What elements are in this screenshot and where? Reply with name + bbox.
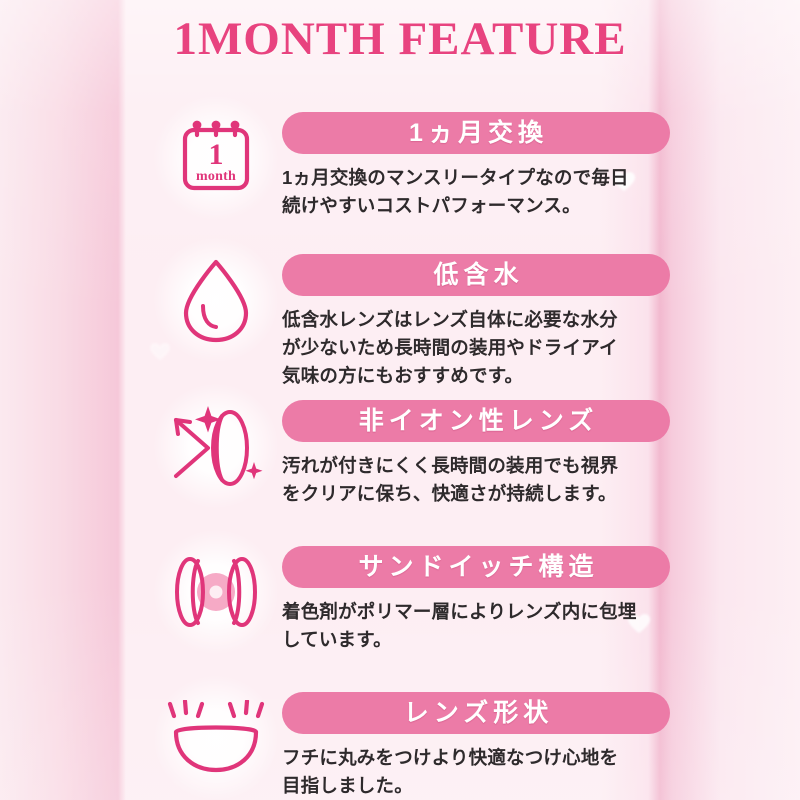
- calendar-unit: month: [196, 169, 236, 184]
- page-title: 1MONTH FEATURE: [0, 12, 800, 66]
- feature-poster: 1MONTH FEATURE 1 month 1ヵ月交換 1ヵ月交換のマンス: [0, 0, 800, 800]
- feature-pill-monthly-replacement: 1ヵ月交換: [282, 112, 670, 154]
- feature-pill-lens-shape: レンズ形状: [282, 692, 670, 734]
- feature-description: 1ヵ月交換のマンスリータイプなので毎日 続けやすいコストパフォーマンス。: [282, 164, 670, 220]
- desc-line: が少ないため長時間の装用やドライアイ: [282, 334, 670, 362]
- desc-line: 気味の方にもおすすめです。: [282, 362, 670, 390]
- feature-row-sandwich-structure: サンドイッチ構造 着色剤がポリマー層によりレンズ内に包埋 しています。: [150, 544, 670, 658]
- sandwich-lens-layers-icon: [150, 526, 282, 658]
- feature-pill-sandwich-structure: サンドイッチ構造: [282, 546, 670, 588]
- feature-text-block: サンドイッチ構造 着色剤がポリマー層によりレンズ内に包埋 しています。: [282, 544, 670, 654]
- feature-text-block: 低含水 低含水レンズはレンズ自体に必要な水分 が少ないため長時間の装用やドライア…: [282, 252, 670, 390]
- desc-line: フチに丸みをつけより快適なつけ心地を: [282, 744, 670, 772]
- feature-row-monthly-replacement: 1 month 1ヵ月交換 1ヵ月交換のマンスリータイプなので毎日 続けやすいコ…: [150, 110, 670, 224]
- desc-line: 1ヵ月交換のマンスリータイプなので毎日: [282, 164, 670, 192]
- desc-line: しています。: [282, 626, 670, 654]
- feature-description: 低含水レンズはレンズ自体に必要な水分 が少ないため長時間の装用やドライアイ 気味…: [282, 306, 670, 390]
- desc-line: 汚れが付きにくく長時間の装用でも視界: [282, 452, 670, 480]
- feature-description: フチに丸みをつけより快適なつけ心地を 目指しました。: [282, 744, 670, 800]
- desc-line: 目指しました。: [282, 772, 670, 800]
- calendar-1month-icon: 1 month: [150, 92, 282, 224]
- feature-description: 汚れが付きにくく長時間の装用でも視界 をクリアに保ち、快適さが持続します。: [282, 452, 670, 508]
- feature-text-block: レンズ形状 フチに丸みをつけより快適なつけ心地を 目指しました。: [282, 690, 670, 800]
- feature-description: 着色剤がポリマー層によりレンズ内に包埋 しています。: [282, 598, 670, 654]
- rounded-edge-lens-icon: [150, 672, 282, 800]
- feature-pill-low-water-content: 低含水: [282, 254, 670, 296]
- desc-line: 低含水レンズはレンズ自体に必要な水分: [282, 306, 670, 334]
- feature-row-non-ionic-lens: 非イオン性レンズ 汚れが付きにくく長時間の装用でも視界 をクリアに保ち、快適さが…: [150, 398, 670, 512]
- feature-text-block: 非イオン性レンズ 汚れが付きにくく長時間の装用でも視界 をクリアに保ち、快適さが…: [282, 398, 670, 508]
- feature-pill-non-ionic-lens: 非イオン性レンズ: [282, 400, 670, 442]
- feature-text-block: 1ヵ月交換 1ヵ月交換のマンスリータイプなので毎日 続けやすいコストパフォーマン…: [282, 110, 670, 220]
- feature-row-low-water-content: 低含水 低含水レンズはレンズ自体に必要な水分 が少ないため長時間の装用やドライア…: [150, 252, 670, 390]
- desc-line: 続けやすいコストパフォーマンス。: [282, 192, 670, 220]
- desc-line: 着色剤がポリマー層によりレンズ内に包埋: [282, 598, 670, 626]
- water-drop-icon: [150, 234, 282, 366]
- calendar-number: 1: [209, 138, 224, 171]
- arrow-repel-lens-icon: [150, 380, 282, 512]
- desc-line: をクリアに保ち、快適さが持続します。: [282, 480, 670, 508]
- feature-row-lens-shape: レンズ形状 フチに丸みをつけより快適なつけ心地を 目指しました。: [150, 690, 670, 800]
